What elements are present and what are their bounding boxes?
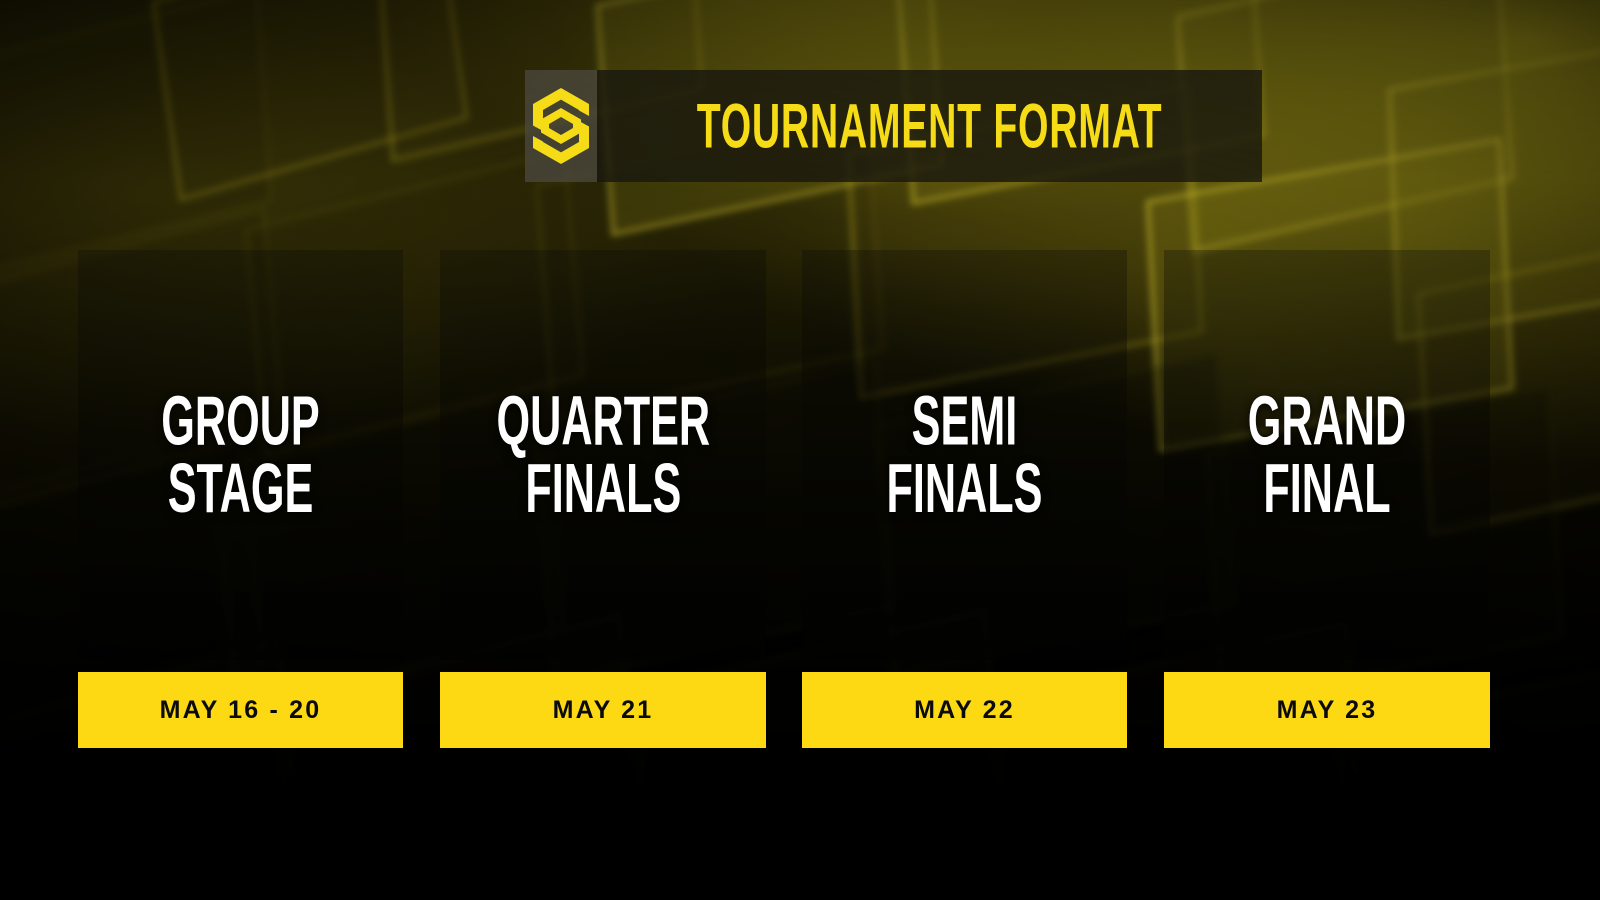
stage-name-label: QUARTER FINALS — [496, 388, 710, 522]
stage-name-label: GRAND FINAL — [1210, 388, 1445, 522]
stage-panel: QUARTER FINALS — [440, 250, 766, 660]
stage-date-banner: MAY 16 - 20 — [78, 672, 403, 748]
tournament-format-slide: TOURNAMENT FORMAT GROUP STAGEMAY 16 - 20… — [0, 0, 1600, 900]
stage-date-banner: MAY 23 — [1164, 672, 1490, 748]
stage-panel: SEMI FINALS — [802, 250, 1127, 660]
stage-panel: GRAND FINAL — [1164, 250, 1490, 660]
stage-panels: GROUP STAGEMAY 16 - 20QUARTER FINALSMAY … — [0, 0, 1600, 900]
stage-date-banner: MAY 21 — [440, 672, 766, 748]
stage-date-label: MAY 21 — [553, 696, 654, 725]
stage-date-banner: MAY 22 — [802, 672, 1127, 748]
stage-date-label: MAY 16 - 20 — [160, 696, 322, 725]
stage-date-label: MAY 22 — [914, 696, 1015, 725]
stage-name-label: GROUP STAGE — [123, 388, 357, 522]
stage-date-label: MAY 23 — [1277, 696, 1378, 725]
stage-name-label: SEMI FINALS — [848, 388, 1082, 522]
stage-panel: GROUP STAGE — [78, 250, 403, 660]
